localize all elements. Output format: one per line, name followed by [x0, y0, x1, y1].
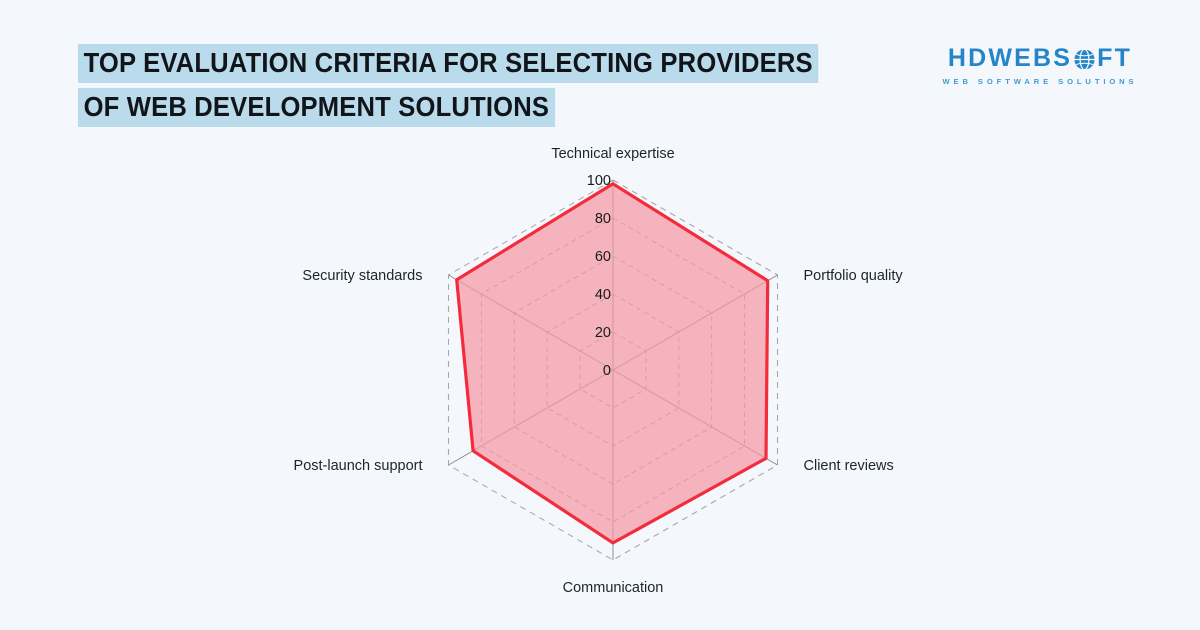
logo-wordmark: HDWEBS FT [940, 46, 1140, 71]
radar-axis-label-security-standards: Security standards [302, 268, 422, 284]
radar-axis-label-technical-expertise: Technical expertise [551, 146, 674, 162]
logo-tagline: WEB SOFTWARE SOLUTIONS [940, 77, 1140, 86]
radar-axis-label-portfolio-quality: Portfolio quality [804, 268, 904, 284]
radar-tick-label-100: 100 [587, 173, 611, 189]
radar-tick-label-80: 80 [595, 211, 611, 227]
radar-axis-label-client-reviews: Client reviews [804, 458, 894, 474]
radar-chart-svg: 020406080100 Technical expertisePortfoli… [0, 130, 1200, 630]
radar-chart: 020406080100 Technical expertisePortfoli… [0, 130, 1200, 630]
radar-tick-label-0: 0 [603, 363, 611, 379]
radar-tick-label-20: 20 [595, 325, 611, 341]
radar-series-polygon [457, 184, 768, 543]
radar-tick-label-60: 60 [595, 249, 611, 265]
logo-text-left: HDWEBS [948, 46, 1072, 71]
radar-axis-label-post-launch-support: Post-launch support [294, 458, 423, 474]
header: TOP EVALUATION CRITERIA FOR SELECTING PR… [0, 0, 1200, 135]
radar-axis-label-communication: Communication [563, 580, 664, 596]
radar-tick-label-40: 40 [595, 287, 611, 303]
brand-logo: HDWEBS FT WEB SOFTWARE SOLUTIONS [940, 46, 1140, 86]
logo-text-right: FT [1097, 46, 1132, 71]
globe-icon [1073, 48, 1096, 71]
title-line-2: OF WEB DEVELOPMENT SOLUTIONS [78, 88, 555, 127]
title-line-1: TOP EVALUATION CRITERIA FOR SELECTING PR… [78, 44, 818, 83]
page-title: TOP EVALUATION CRITERIA FOR SELECTING PR… [78, 44, 838, 132]
